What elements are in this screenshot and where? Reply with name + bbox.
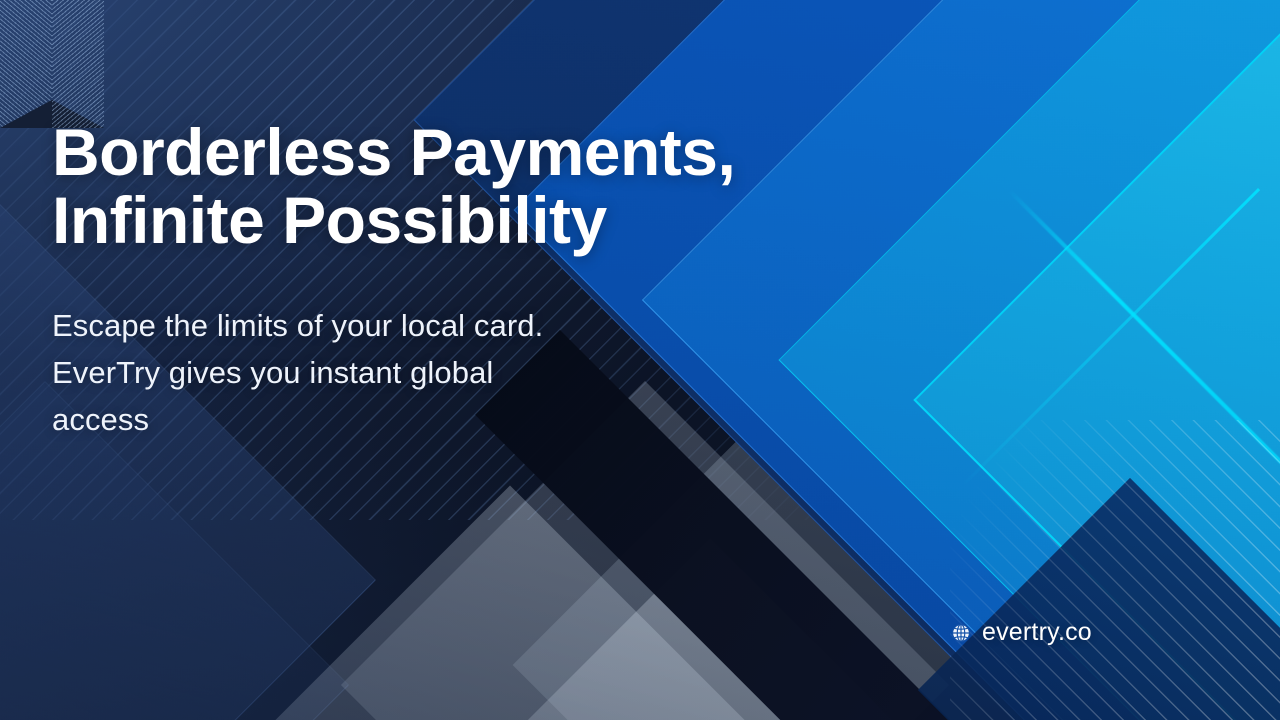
hero-banner: Borderless Payments, Infinite Possibilit… [0,0,1280,720]
chevron-pattern-mask [0,0,104,128]
page-subtitle: Escape the limits of your local card. Ev… [52,302,652,443]
globe-icon [950,622,972,644]
website-link[interactable]: evertry.co [950,620,1092,645]
chevron-pattern-corner [0,0,104,128]
website-label: evertry.co [982,620,1092,645]
hero-copy-block: Borderless Payments, Infinite Possibilit… [52,118,782,443]
page-title: Borderless Payments, Infinite Possibilit… [52,118,782,254]
